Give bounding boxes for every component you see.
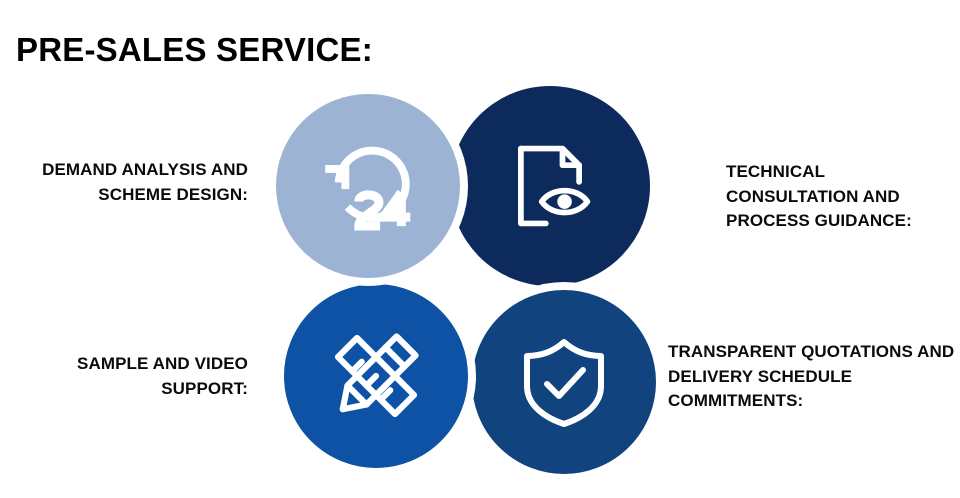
circle-node-demand-analysis[interactable] <box>268 86 468 286</box>
label-demand-analysis: DEMAND ANALYSIS AND SCHEME DESIGN: <box>0 158 248 207</box>
circle-node-sample-video-support[interactable] <box>276 276 476 476</box>
label-sample-video-support: SAMPLE AND VIDEO SUPPORT: <box>0 352 248 401</box>
label-technical-consultation: TECHNICAL CONSULTATION AND PROCESS GUIDA… <box>726 160 956 234</box>
circle-node-technical-consultation[interactable] <box>450 86 650 286</box>
page-title: PRE-SALES SERVICE: <box>16 30 373 70</box>
label-transparent-quotations: TRANSPARENT QUOTATIONS AND DELIVERY SCHE… <box>668 340 960 414</box>
pre-sales-service-diagram <box>268 86 678 486</box>
document-eye-review-icon <box>498 134 602 238</box>
shield-check-icon <box>514 332 614 432</box>
pencil-ruler-design-icon <box>320 320 432 432</box>
circle-node-transparent-quotations[interactable] <box>464 282 664 482</box>
24-hour-rotate-icon <box>314 132 426 244</box>
